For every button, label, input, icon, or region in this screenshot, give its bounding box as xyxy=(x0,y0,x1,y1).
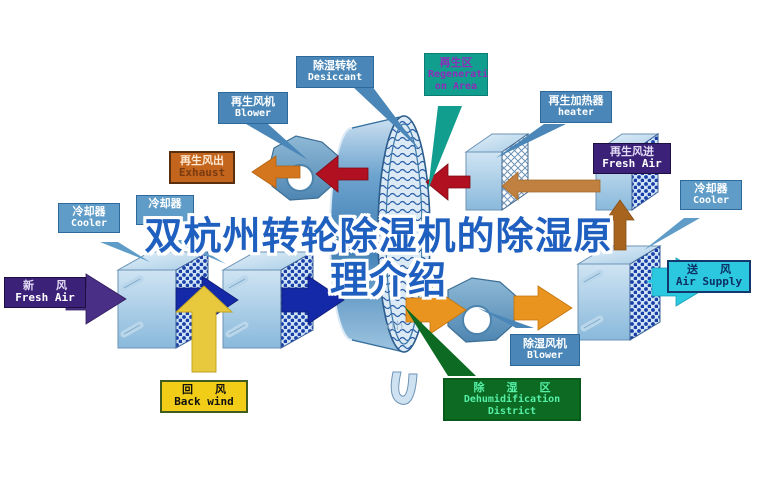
label-cooler-mid[interactable]: 冷却器 xyxy=(136,195,194,225)
label-desiccant-wheel-en: Desiccant xyxy=(301,72,369,83)
label-cooler-left-cn: 冷却器 xyxy=(62,206,116,218)
label-cooler-right-en: Cooler xyxy=(684,195,738,206)
label-regeneration-blower[interactable]: 再生风机 Blower xyxy=(218,92,288,124)
label-regeneration-area-cn: 再生区 xyxy=(428,57,484,69)
label-desiccant-wheel-cn: 除湿转轮 xyxy=(301,60,369,72)
label-regeneration-fresh-air[interactable]: 再生风进 Fresh Air xyxy=(593,143,671,174)
label-air-supply-en: Air Supply xyxy=(672,276,746,288)
label-regeneration-heater[interactable]: 再生加热器 heater xyxy=(540,91,612,123)
label-regeneration-fresh-air-en: Fresh Air xyxy=(598,158,666,170)
arrow-regen-air-to-heater xyxy=(502,172,600,200)
label-regeneration-heater-en: heater xyxy=(545,107,607,118)
label-dehumidification-district-en1: Dehumidification xyxy=(448,394,576,405)
label-dehumidification-blower-cn: 除湿风机 xyxy=(515,338,575,350)
label-cooler-left-en: Cooler xyxy=(62,218,116,229)
condensate-drip xyxy=(391,372,417,404)
label-desiccant-wheel[interactable]: 除湿转轮 Desiccant xyxy=(296,56,374,88)
wheel-watermark: xth xyxy=(384,319,403,333)
label-cooler-left[interactable]: 冷却器 Cooler xyxy=(58,203,120,233)
label-regeneration-area-en1: Regenerati xyxy=(428,69,484,80)
diagram-artwork: xth xyxy=(0,0,757,488)
dehumidifier-principle-diagram: xth 除湿转轮 Desiccant 再生风机 Blower 再生风出 Exha… xyxy=(0,0,757,488)
label-back-wind-en: Back wind xyxy=(165,396,243,408)
label-back-wind[interactable]: 回风 Back wind xyxy=(160,380,248,413)
label-fresh-air-in-en: Fresh Air xyxy=(8,292,82,304)
label-air-supply[interactable]: 送风 Air Supply xyxy=(667,260,751,293)
label-cooler-mid-cn: 冷却器 xyxy=(140,198,190,210)
label-regeneration-exhaust-en: Exhaust xyxy=(174,167,230,179)
label-regeneration-area[interactable]: 再生区 Regenerati on Area xyxy=(424,53,488,96)
label-regeneration-exhaust[interactable]: 再生风出 Exhaust xyxy=(169,151,235,184)
label-fresh-air-in[interactable]: 新风 Fresh Air xyxy=(4,277,86,308)
label-dehumidification-blower[interactable]: 除湿风机 Blower xyxy=(510,334,580,366)
label-regeneration-heater-cn: 再生加热器 xyxy=(545,95,607,107)
label-cooler-right[interactable]: 冷却器 Cooler xyxy=(680,180,742,210)
label-regeneration-area-en2: on Area xyxy=(428,81,484,92)
label-dehumidification-blower-en: Blower xyxy=(515,350,575,361)
supply-coil-block xyxy=(578,246,660,340)
label-regeneration-blower-en: Blower xyxy=(223,108,283,119)
label-dehumidification-district-cn: 除湿区 xyxy=(448,382,576,394)
arrow-blower-outlet xyxy=(514,286,572,330)
label-dehumidification-district-en2: District xyxy=(448,406,576,417)
label-dehumidification-district[interactable]: 除湿区 Dehumidification District xyxy=(443,378,581,421)
label-regeneration-blower-cn: 再生风机 xyxy=(223,96,283,108)
label-cooler-right-cn: 冷却器 xyxy=(684,183,738,195)
